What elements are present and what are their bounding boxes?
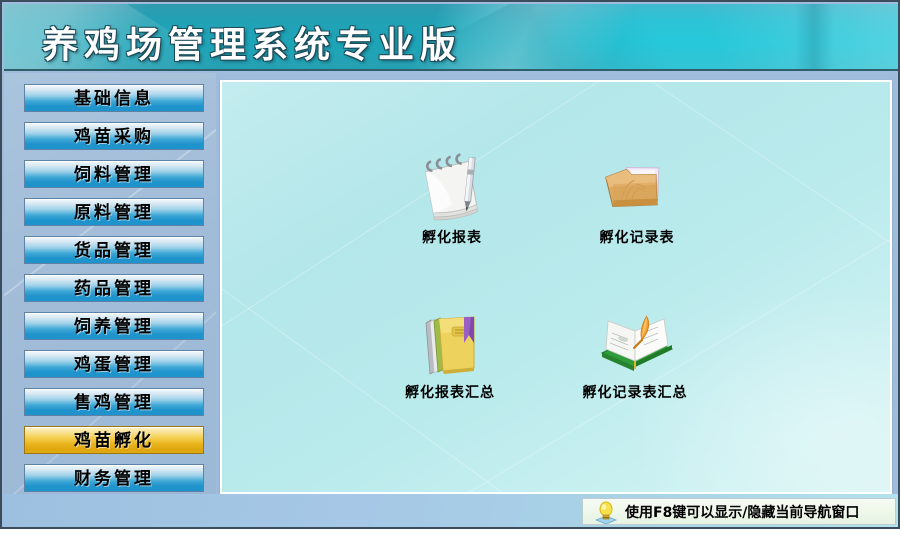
notepad-pen-icon (352, 152, 552, 224)
shortcut-label: 孵化报表 (352, 230, 552, 246)
page-title: 养鸡场管理系统专业版 (42, 16, 462, 68)
shortcut-hatching-report-summary[interactable]: 孵化报表汇总 (350, 307, 550, 401)
status-hint-box: 使用F8键可以显示/隐藏当前导航窗口 (582, 498, 896, 525)
title-banner: 养鸡场管理系统专业版 (4, 4, 900, 71)
sidebar-item-chicken-sales-management[interactable]: 售鸡管理 (24, 388, 204, 416)
sidebar-item-label: 鸡苗采购 (25, 125, 203, 149)
shortcut-hatching-record-summary[interactable]: 孵化记录表汇总 (535, 307, 735, 401)
sidebar-item-chick-purchase[interactable]: 鸡苗采购 (24, 122, 204, 150)
status-hint-text: 使用F8键可以显示/隐藏当前导航窗口 (625, 502, 859, 522)
shortcut-label: 孵化记录表汇总 (535, 385, 735, 401)
sidebar-item-label: 基础信息 (25, 87, 203, 111)
sidebar-item-goods-management[interactable]: 货品管理 (24, 236, 204, 264)
sidebar-item-label: 饲养管理 (25, 315, 203, 339)
sidebar-item-label: 原料管理 (25, 201, 203, 225)
sidebar-item-label: 售鸡管理 (25, 391, 203, 415)
open-book-quill-icon (535, 307, 735, 379)
sidebar-item-breeding-management[interactable]: 饲养管理 (24, 312, 204, 340)
shortcut-label: 孵化记录表 (537, 230, 737, 246)
application-window: 养鸡场管理系统专业版 基础信息 鸡苗采购 饲料管理 原料管理 货品管理 药品管理 (0, 0, 900, 535)
shortcut-hatching-report[interactable]: 孵化报表 (352, 152, 552, 246)
main-window: 养鸡场管理系统专业版 基础信息 鸡苗采购 饲料管理 原料管理 货品管理 药品管理 (0, 0, 900, 529)
sidebar-item-raw-material-management[interactable]: 原料管理 (24, 198, 204, 226)
sidebar-item-basic-info[interactable]: 基础信息 (24, 84, 204, 112)
sidebar-item-label: 货品管理 (25, 239, 203, 263)
lightbulb-icon (593, 500, 619, 524)
sidebar-item-feed-management[interactable]: 饲料管理 (24, 160, 204, 188)
yellow-book-bookmark-icon (350, 307, 550, 379)
sidebar-item-finance-management[interactable]: 财务管理 (24, 464, 204, 492)
banner-band-right (794, 4, 834, 71)
sidebar-item-label: 鸡苗孵化 (25, 429, 203, 453)
navigation-sidebar: 基础信息 鸡苗采购 饲料管理 原料管理 货品管理 药品管理 饲养管理 鸡蛋管理 … (4, 73, 216, 529)
shortcut-hatching-record-sheet[interactable]: 孵化记录表 (537, 152, 737, 246)
sidebar-menu: 基础信息 鸡苗采购 饲料管理 原料管理 货品管理 药品管理 饲养管理 鸡蛋管理 … (24, 84, 204, 502)
sidebar-item-egg-management[interactable]: 鸡蛋管理 (24, 350, 204, 378)
sidebar-item-chick-hatching[interactable]: 鸡苗孵化 (24, 426, 204, 454)
shortcut-grid: 孵化报表 (222, 82, 892, 494)
sidebar-item-label: 饲料管理 (25, 163, 203, 187)
shortcut-label: 孵化报表汇总 (350, 385, 550, 401)
sidebar-item-label: 药品管理 (25, 277, 203, 301)
content-panel: 孵化报表 (220, 80, 892, 494)
sidebar-item-label: 鸡蛋管理 (25, 353, 203, 377)
status-bar: 使用F8键可以显示/隐藏当前导航窗口 (0, 498, 900, 528)
folder-documents-icon (537, 152, 737, 224)
sidebar-item-medicine-management[interactable]: 药品管理 (24, 274, 204, 302)
sidebar-item-label: 财务管理 (25, 467, 203, 491)
